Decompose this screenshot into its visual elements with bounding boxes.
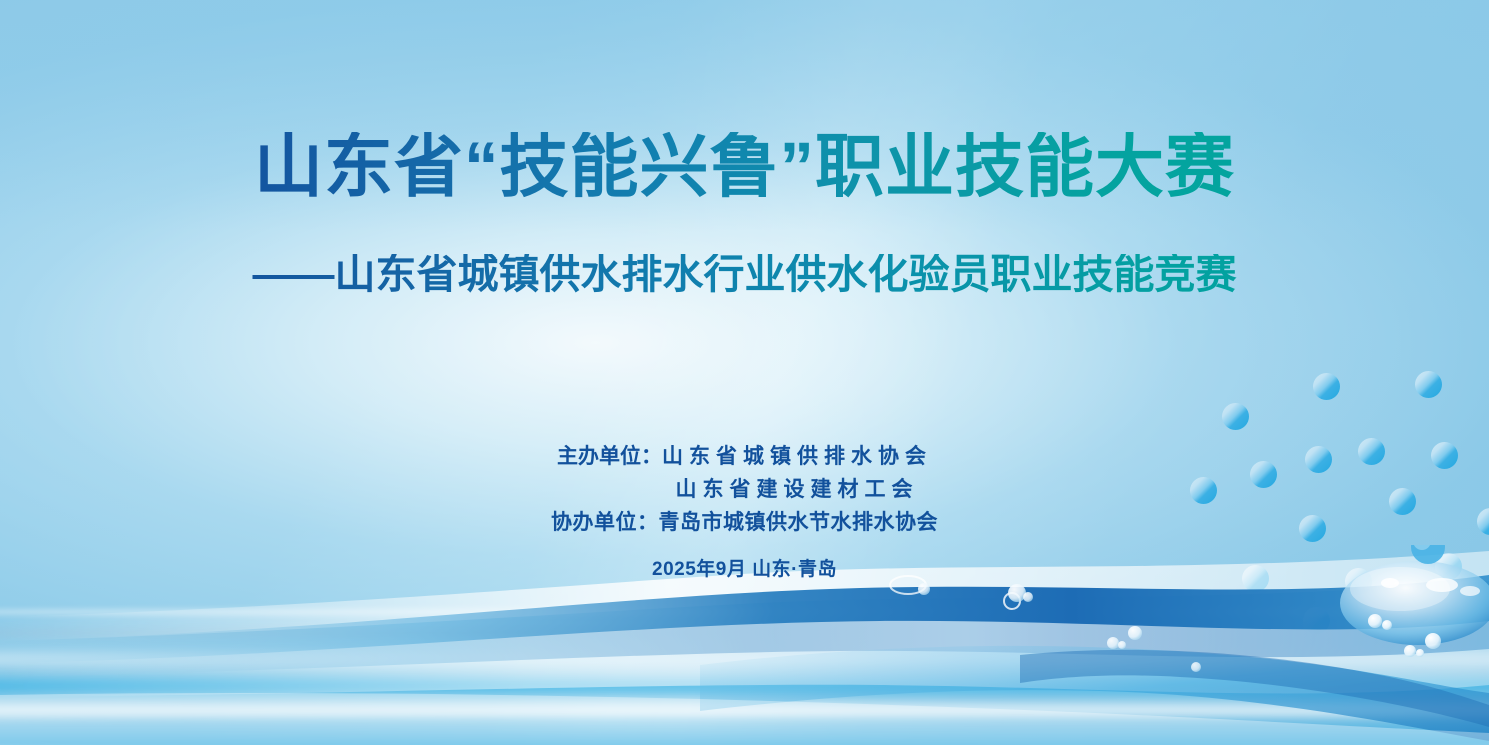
- droplet-dot: [1222, 403, 1249, 430]
- droplet-dot: [1415, 371, 1442, 398]
- page-subtitle: ——山东省城镇供水排水行业供水化验员职业技能竞赛: [0, 254, 1489, 295]
- coorganizer-line: 协办单位：青岛市城镇供水节水排水协会: [0, 506, 1489, 539]
- coorganizer-value: 青岛市城镇供水节水排水协会: [659, 511, 939, 534]
- organizer-value-2: 山东省建设建材工会: [676, 478, 919, 501]
- page-title: 山东省“技能兴鲁”职业技能大赛: [0, 132, 1489, 201]
- organizer-line-1: 主办单位：山东省城镇供排水协会: [0, 440, 1489, 473]
- date-location: 2025年9月 山东·青岛: [0, 554, 1489, 581]
- poster-canvas: 山东省“技能兴鲁”职业技能大赛 ——山东省城镇供水排水行业供水化验员职业技能竞赛…: [0, 0, 1489, 745]
- organizer-line-2: 主办单位：山东省建设建材工会: [0, 473, 1489, 506]
- coorganizer-label: 协办单位：: [551, 511, 659, 534]
- droplet-dot: [1313, 373, 1340, 400]
- credits-block: 主办单位：山东省城镇供排水协会 主办单位：山东省建设建材工会 协办单位：青岛市城…: [0, 440, 1489, 581]
- organizer-label: 主办单位：: [557, 445, 662, 468]
- organizer-value-1: 山东省城镇供排水协会: [662, 445, 932, 468]
